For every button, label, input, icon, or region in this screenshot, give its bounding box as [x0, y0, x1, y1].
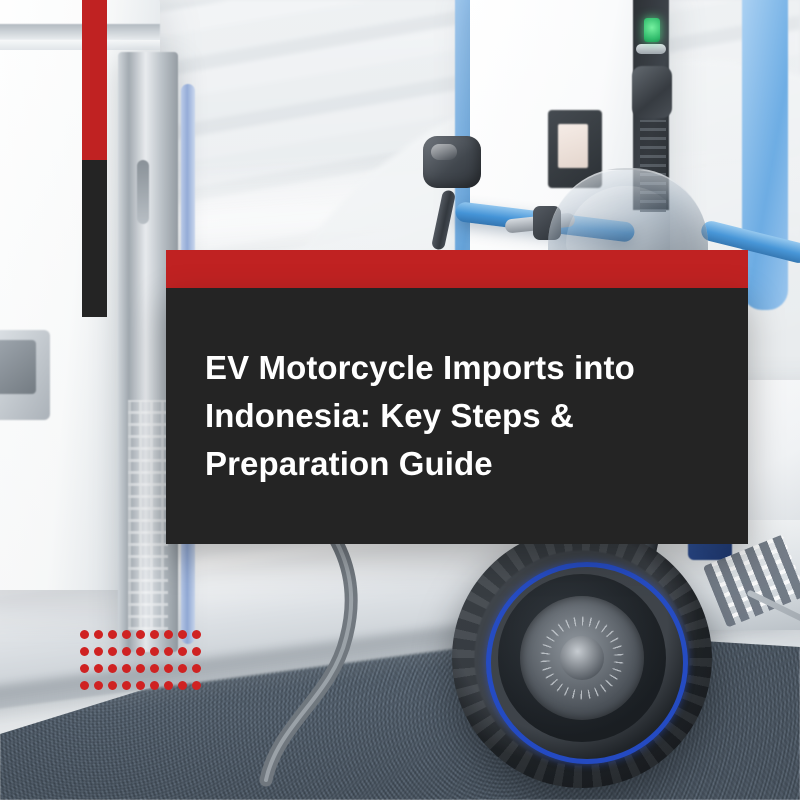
grid-dot: [150, 681, 159, 690]
grid-dot: [192, 681, 201, 690]
grid-dot: [80, 664, 89, 673]
grid-dot: [136, 630, 145, 639]
grid-dot: [192, 664, 201, 673]
grid-dot: [178, 681, 187, 690]
grid-dot: [192, 647, 201, 656]
grid-dot: [150, 630, 159, 639]
grid-dot: [80, 681, 89, 690]
grid-dot: [136, 647, 145, 656]
vertical-bar-dark-segment: [82, 160, 107, 317]
grid-dot: [122, 664, 131, 673]
grid-dot: [164, 647, 173, 656]
grid-dot: [178, 647, 187, 656]
grid-dot: [108, 647, 117, 656]
grid-dot: [150, 647, 159, 656]
grid-dot: [94, 630, 103, 639]
grid-dot: [192, 630, 201, 639]
grid-dot: [108, 630, 117, 639]
page-title: EV Motorcycle Imports into Indonesia: Ke…: [166, 344, 748, 488]
grid-dot: [136, 681, 145, 690]
grid-dot: [164, 681, 173, 690]
dot-grid-decoration: [80, 630, 206, 698]
vertical-bar-red-segment: [82, 0, 107, 160]
grid-dot: [122, 630, 131, 639]
grid-dot: [94, 681, 103, 690]
grid-dot: [108, 681, 117, 690]
grid-dot: [178, 630, 187, 639]
grid-dot: [94, 664, 103, 673]
grid-dot: [108, 664, 117, 673]
grid-dot: [80, 630, 89, 639]
grid-dot: [164, 630, 173, 639]
grid-dot: [136, 664, 145, 673]
title-card: EV Motorcycle Imports into Indonesia: Ke…: [166, 250, 748, 544]
grid-dot: [164, 664, 173, 673]
grid-dot: [122, 681, 131, 690]
title-card-accent-bar: [166, 250, 748, 288]
grid-dot: [178, 664, 187, 673]
title-card-body: EV Motorcycle Imports into Indonesia: Ke…: [166, 288, 748, 544]
grid-dot: [94, 647, 103, 656]
poster-canvas: EV Motorcycle Imports into Indonesia: Ke…: [0, 0, 800, 800]
grid-dot: [150, 664, 159, 673]
vertical-accent-bar: [82, 0, 107, 317]
grid-dot: [122, 647, 131, 656]
grid-dot: [80, 647, 89, 656]
